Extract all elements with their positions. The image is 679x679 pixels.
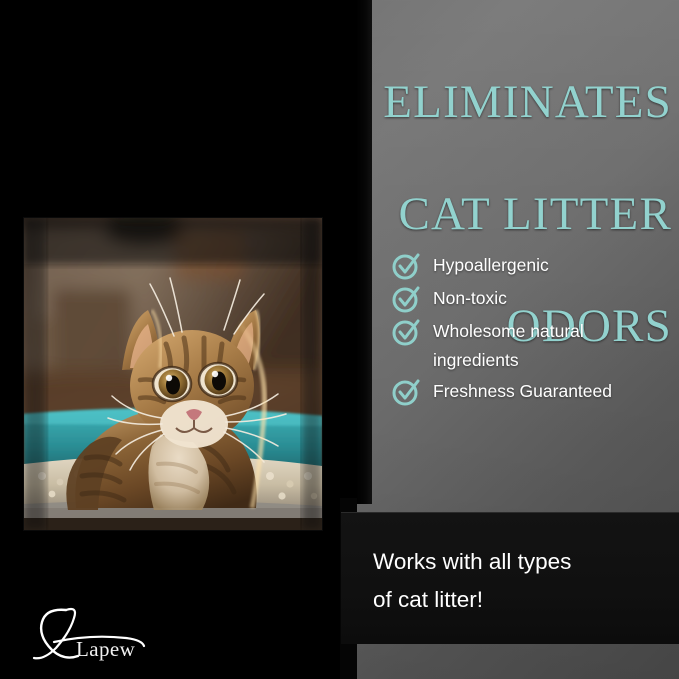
feature-label: Wholesome natural ingredients	[433, 317, 669, 374]
product-photo	[24, 218, 322, 530]
check-circle-icon	[391, 284, 421, 314]
list-item: Hypoallergenic	[391, 251, 679, 281]
check-circle-icon	[391, 251, 421, 281]
brand-name: Lapew	[76, 638, 135, 660]
check-circle-icon	[391, 317, 421, 347]
feature-list: Hypoallergenic Non-toxic Wholesome natur…	[391, 251, 679, 410]
feature-label: Hypoallergenic	[433, 251, 549, 280]
brand-logo: Lapew	[20, 604, 180, 666]
callout-box: Works with all types of cat litter!	[341, 512, 679, 644]
headline-line-2: CAT LITTER	[300, 186, 672, 242]
check-circle-icon	[391, 377, 421, 407]
callout-text: Works with all types of cat litter!	[373, 543, 663, 619]
kitten-litterbox-illustration	[24, 218, 322, 530]
list-item: Non-toxic	[391, 284, 679, 314]
feature-label: Non-toxic	[433, 284, 507, 313]
list-item: Wholesome natural ingredients	[391, 317, 679, 374]
headline-line-1: ELIMINATES	[300, 74, 672, 130]
list-item: Freshness Guaranteed	[391, 377, 679, 407]
feature-label: Freshness Guaranteed	[433, 377, 612, 406]
product-ad-canvas: ELIMINATES CAT LITTER ODORS	[0, 0, 679, 679]
